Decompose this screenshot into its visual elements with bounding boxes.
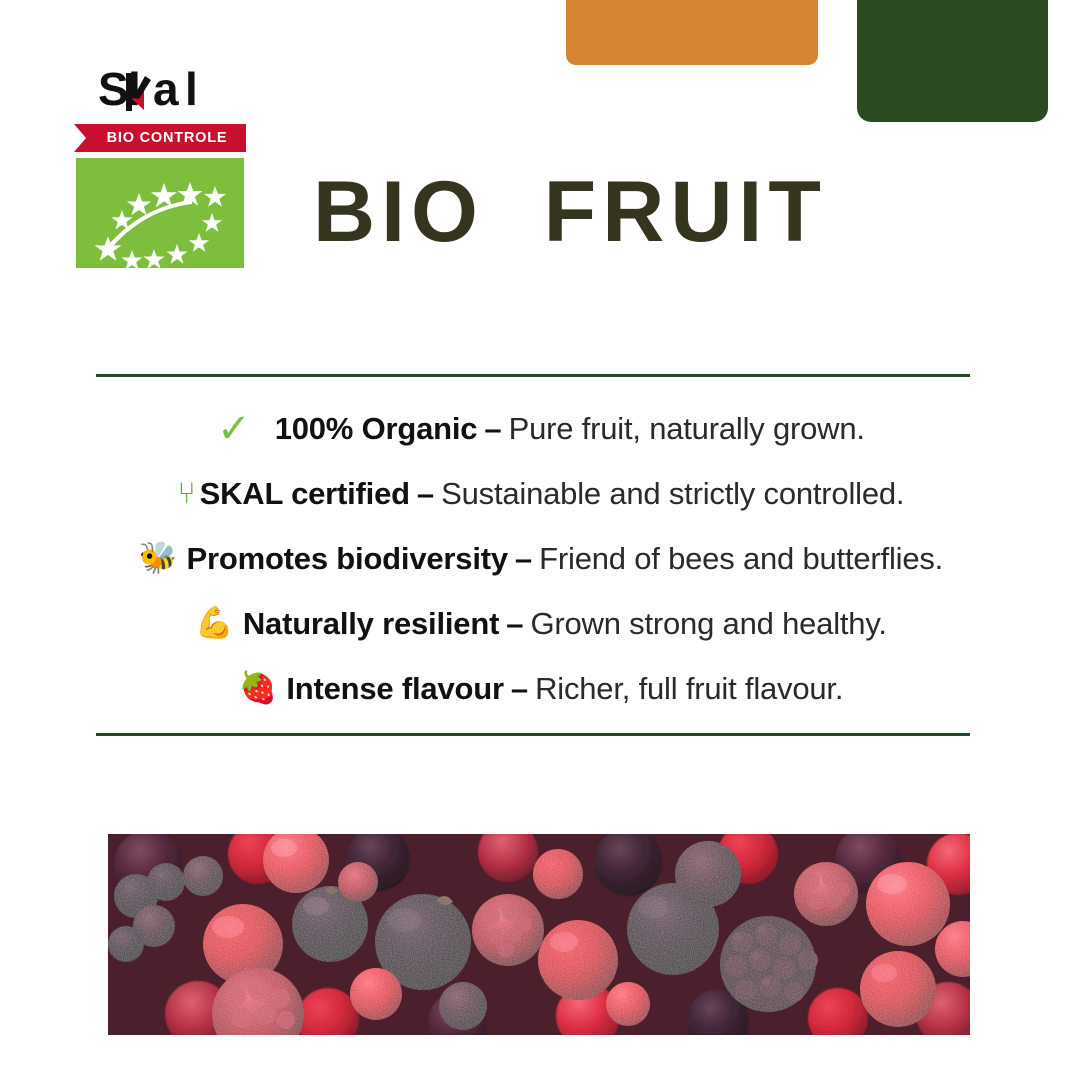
feature-dash: – xyxy=(508,541,539,577)
divider-bottom xyxy=(96,733,970,736)
svg-text:l: l xyxy=(185,68,198,115)
bee-icon: 🐝 xyxy=(139,543,178,574)
feature-description: Sustainable and strictly controlled. xyxy=(441,476,904,512)
feature-row-skal-certified: ⑂ SKAL certified – Sustainable and stric… xyxy=(96,461,986,526)
skal-logo-lockup: S l a l BIO CONTROLE xyxy=(74,68,334,268)
eu-organic-leaf-logo xyxy=(76,158,244,268)
feature-bold-label: Promotes biodiversity xyxy=(187,541,508,577)
divider-top xyxy=(96,374,970,377)
feature-row-resilient: 💪 Naturally resilient – Grown strong and… xyxy=(96,591,986,656)
feature-row-organic: ✓ 100% Organic – Pure fruit, naturally g… xyxy=(96,396,986,461)
mixed-frozen-berries-photo xyxy=(108,834,970,1035)
feature-dash: – xyxy=(504,671,535,707)
feature-row-flavour: 🍓 Intense flavour – Richer, full fruit f… xyxy=(96,656,986,721)
feature-description: Richer, full fruit flavour. xyxy=(535,671,843,707)
feature-dash: – xyxy=(477,411,508,447)
skal-wordmark: S l a l xyxy=(98,68,248,116)
svg-text:a: a xyxy=(153,68,179,115)
feature-description: Pure fruit, naturally grown. xyxy=(509,411,865,447)
feature-row-biodiversity: 🐝 Promotes biodiversity – Friend of bees… xyxy=(96,526,986,591)
feature-list: ✓ 100% Organic – Pure fruit, naturally g… xyxy=(96,396,986,721)
orange-accent-block xyxy=(566,0,818,65)
feature-bold-label: SKAL certified xyxy=(200,476,410,512)
seedling-icon: ⑂ xyxy=(178,479,196,509)
strawberry-icon: 🍓 xyxy=(239,673,278,704)
green-accent-block xyxy=(857,0,1048,122)
feature-bold-label: 100% Organic xyxy=(275,411,478,447)
page-title: BIO FRUIT xyxy=(313,169,827,255)
feature-dash: – xyxy=(410,476,441,512)
feature-description: Friend of bees and butterflies. xyxy=(539,541,943,577)
feature-bold-label: Naturally resilient xyxy=(243,606,499,642)
bio-controle-label: BIO CONTROLE xyxy=(74,124,246,152)
check-mark-icon: ✓ xyxy=(217,409,251,449)
flexed-biceps-icon: 💪 xyxy=(195,608,234,639)
feature-description: Grown strong and healthy. xyxy=(530,606,886,642)
svg-text:S: S xyxy=(98,68,128,115)
bio-controle-banner: BIO CONTROLE xyxy=(74,124,246,152)
feature-bold-label: Intense flavour xyxy=(286,671,504,707)
feature-dash: – xyxy=(499,606,530,642)
